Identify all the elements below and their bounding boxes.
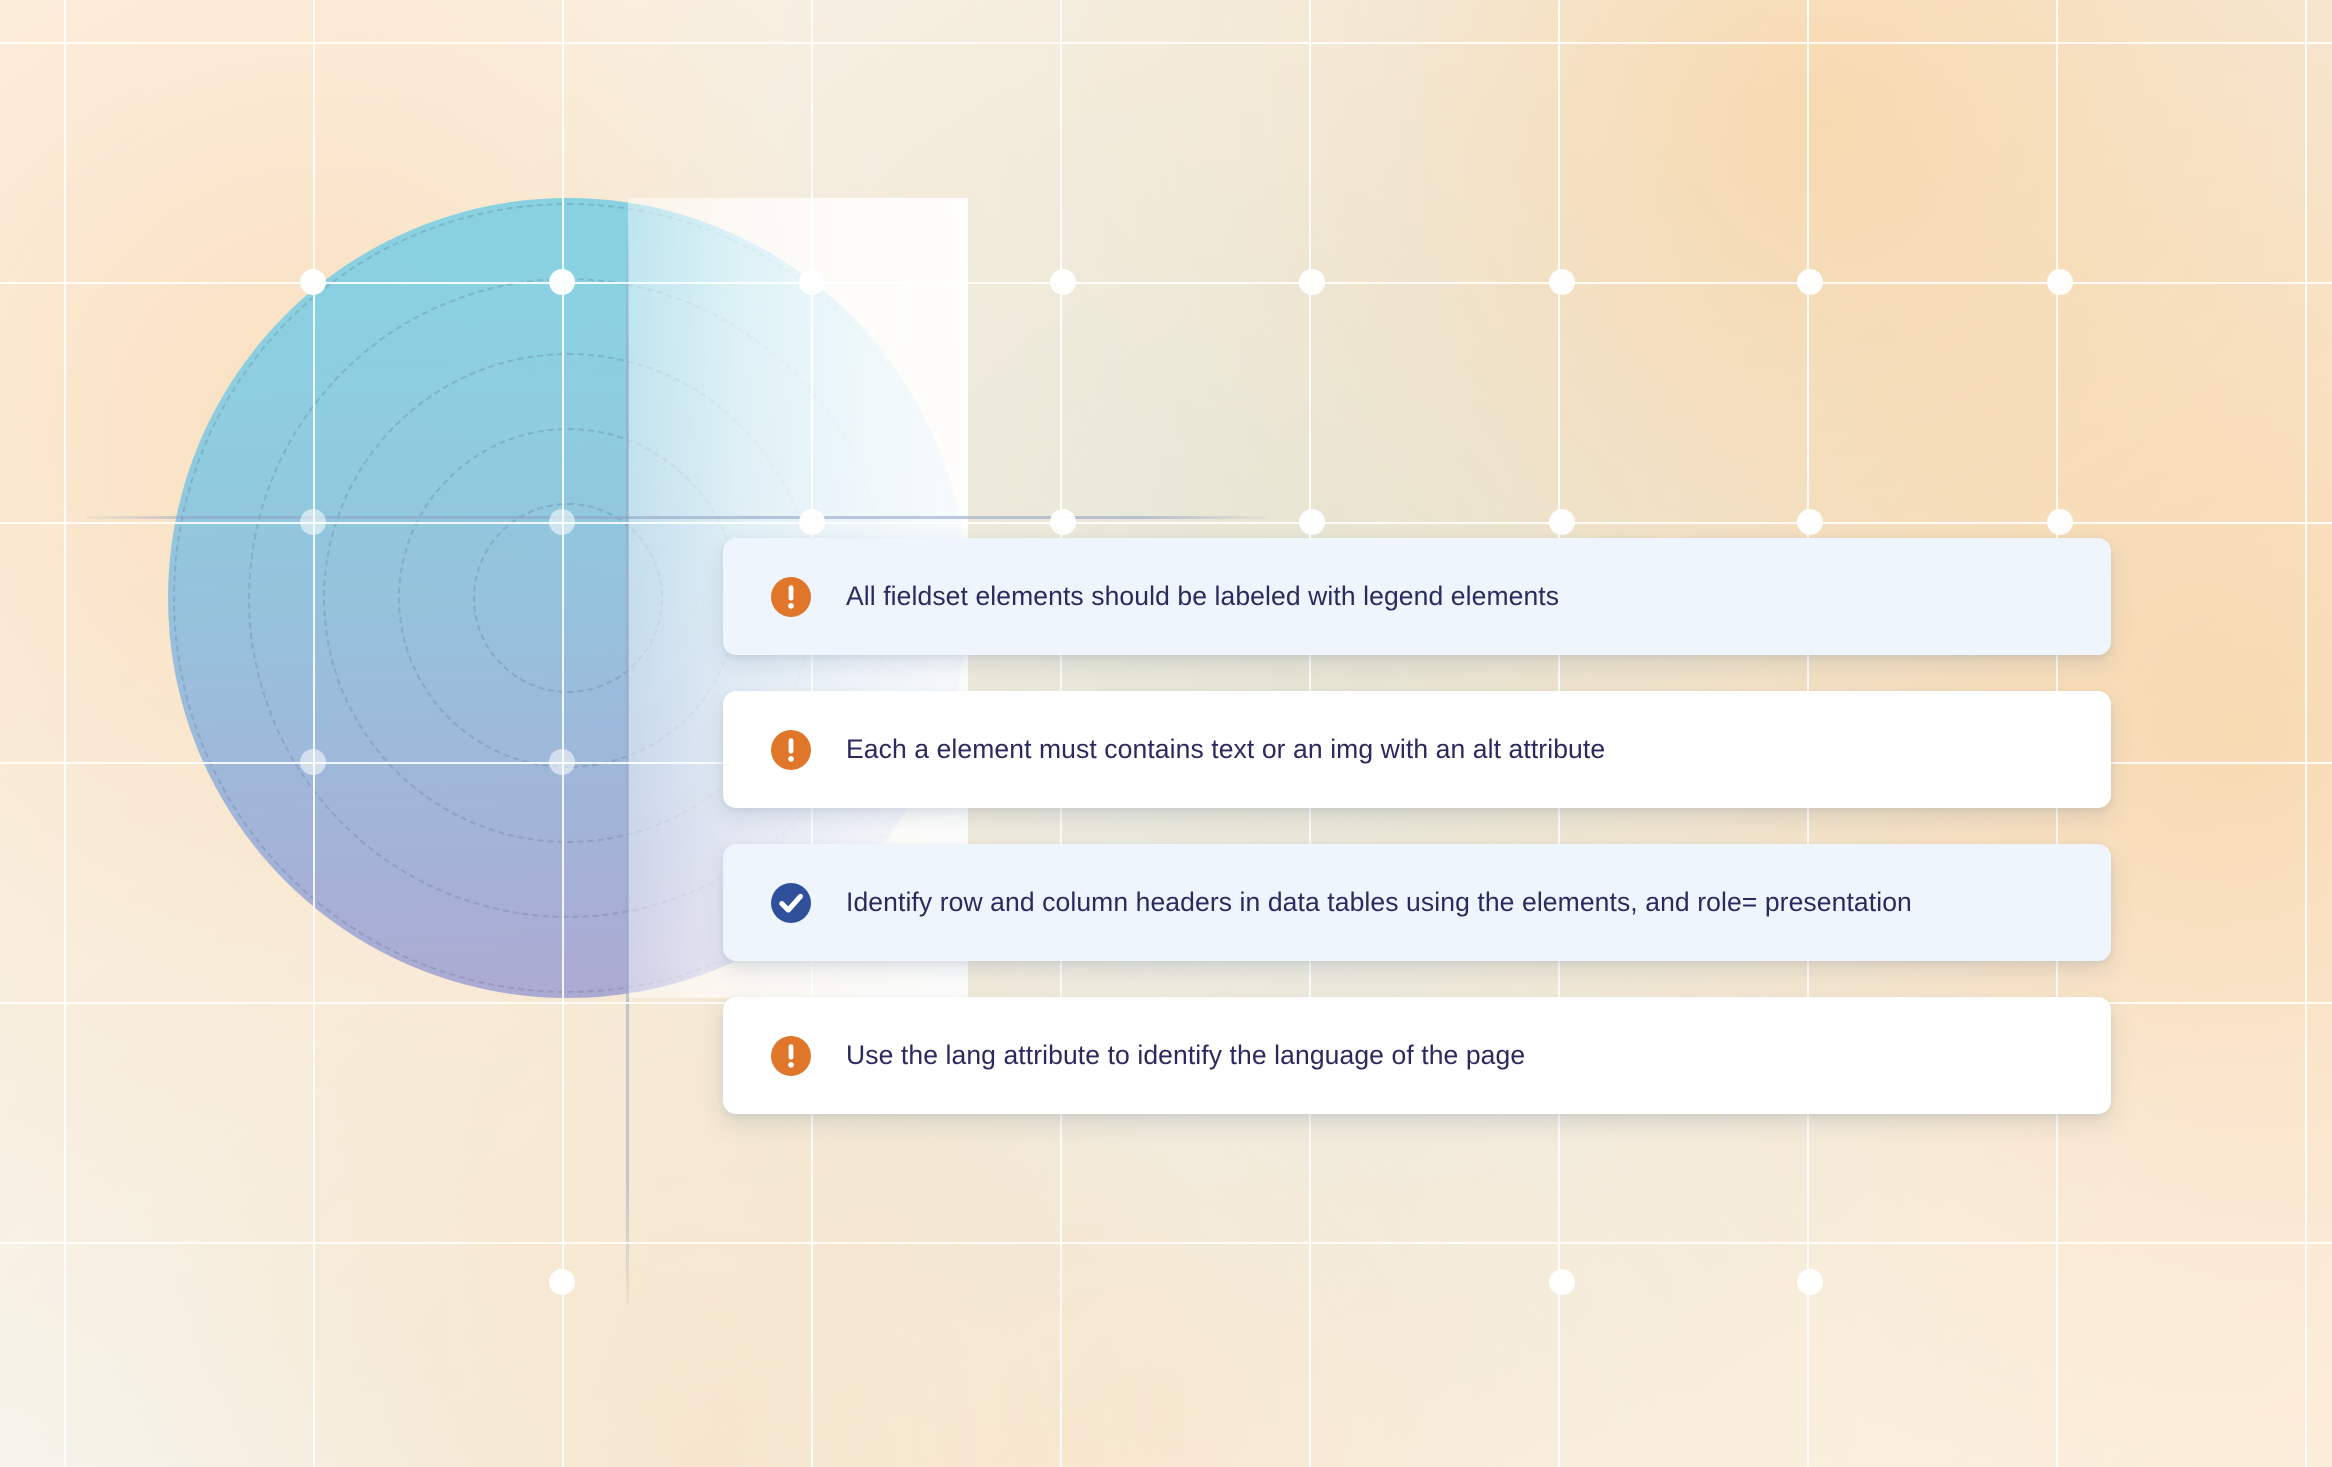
grid-dot — [1050, 509, 1076, 535]
grid-dot — [300, 269, 326, 295]
grid-dot — [549, 749, 575, 775]
warning-icon — [770, 729, 812, 771]
grid-dot — [1549, 269, 1575, 295]
check-circle-icon — [770, 882, 812, 924]
issue-card[interactable]: Use the lang attribute to identify the l… — [723, 997, 2111, 1114]
issue-card-text: Each a element must contains text or an … — [846, 733, 1605, 766]
grid-dot — [1549, 509, 1575, 535]
grid-dot — [2047, 509, 2073, 535]
grid-dot — [799, 509, 825, 535]
issue-card-list: All fieldset elements should be labeled … — [723, 538, 2111, 1114]
warning-icon — [770, 576, 812, 618]
grid-dot — [2047, 269, 2073, 295]
grid-dot — [1549, 1269, 1575, 1295]
issue-card[interactable]: All fieldset elements should be labeled … — [723, 538, 2111, 655]
issue-card-text: All fieldset elements should be labeled … — [846, 580, 1559, 613]
issue-card[interactable]: Each a element must contains text or an … — [723, 691, 2111, 808]
issue-card[interactable]: Identify row and column headers in data … — [723, 844, 2111, 961]
grid-dot — [1797, 1269, 1823, 1295]
grid-dot — [1797, 269, 1823, 295]
issue-card-text: Use the lang attribute to identify the l… — [846, 1039, 1525, 1072]
grid-dot — [1050, 269, 1076, 295]
horizontal-axis-line — [86, 516, 1266, 519]
grid-dot — [549, 269, 575, 295]
warning-icon — [770, 1035, 812, 1077]
vertical-axis-line — [626, 225, 629, 1305]
grid-dot — [799, 269, 825, 295]
grid-dot — [300, 509, 326, 535]
grid-dot — [1299, 509, 1325, 535]
grid-dot — [1299, 269, 1325, 295]
grid-dot — [549, 1269, 575, 1295]
grid-dot — [1797, 509, 1823, 535]
issue-card-text: Identify row and column headers in data … — [846, 886, 1912, 919]
grid-dot — [549, 509, 575, 535]
grid-dot — [300, 749, 326, 775]
accessibility-results-illustration: All fieldset elements should be labeled … — [0, 0, 2332, 1467]
